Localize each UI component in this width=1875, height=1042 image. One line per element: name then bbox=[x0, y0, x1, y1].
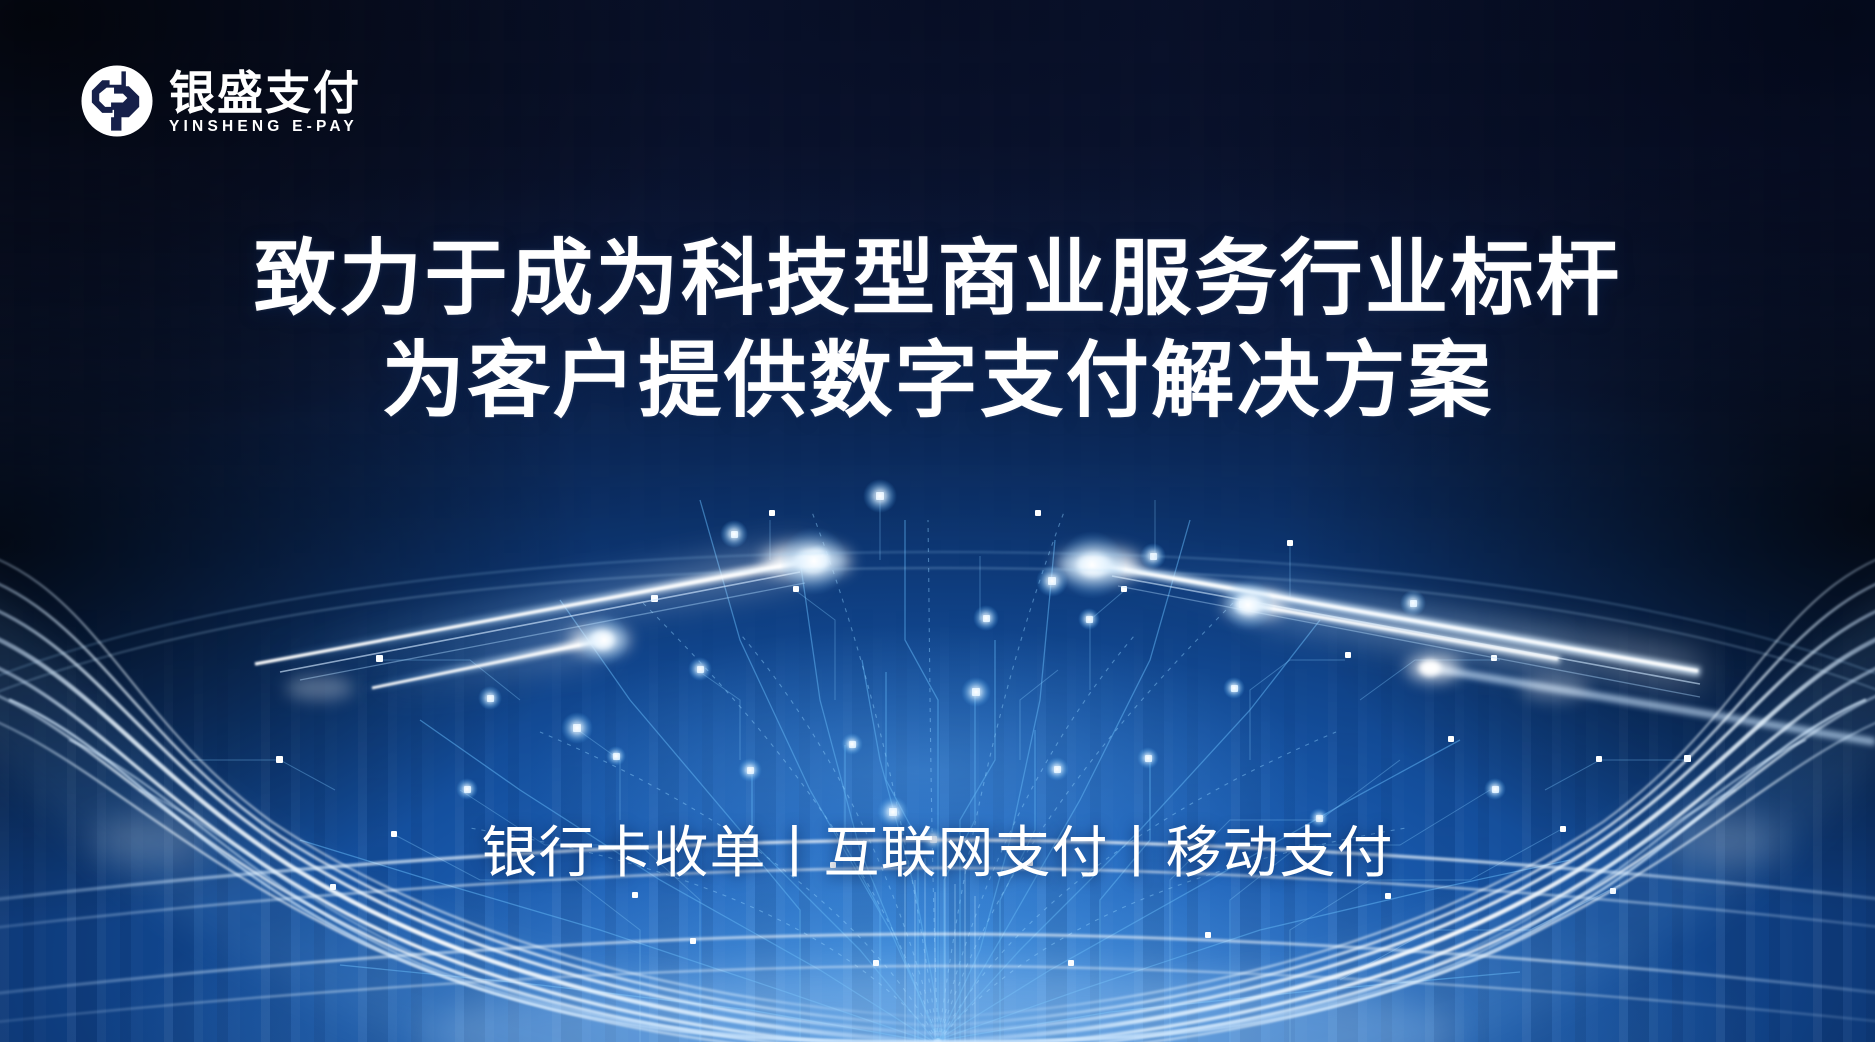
light-ribbon-ring-back bbox=[0, 552, 1875, 716]
page-title: 致力于成为科技型商业服务行业标杆 为客户提供数字支付解决方案 bbox=[0, 236, 1875, 425]
brand-name-en: YINSHENG E-PAY bbox=[169, 119, 361, 135]
headline-line-1: 致力于成为科技型商业服务行业标杆 bbox=[0, 236, 1875, 322]
headline-line-2: 为客户提供数字支付解决方案 bbox=[0, 338, 1875, 424]
brand-logo[interactable]: 银盛支付 YINSHENG E-PAY bbox=[80, 64, 361, 138]
comet-streaks bbox=[250, 527, 1875, 742]
yinsheng-emblem-icon bbox=[80, 64, 154, 138]
service-tagline: 银行卡收单丨互联网支付丨移动支付 bbox=[0, 823, 1875, 885]
banner-canvas: 银盛支付 YINSHENG E-PAY 致力于成为科技型商业服务行业标杆 为客户… bbox=[0, 0, 1875, 1042]
brand-wordmark: 银盛支付 YINSHENG E-PAY bbox=[169, 68, 361, 135]
brand-name-cn: 银盛支付 bbox=[169, 70, 361, 116]
